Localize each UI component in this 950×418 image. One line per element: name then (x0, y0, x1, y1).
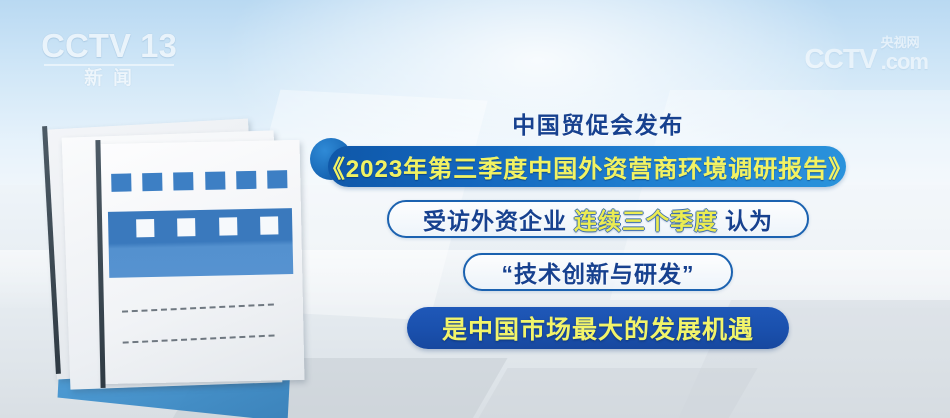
document-window (177, 218, 195, 236)
headline-line4-text: 是中国市场最大的发展机遇 (442, 310, 754, 346)
document-tick (267, 170, 287, 188)
document-tick (111, 173, 131, 191)
report-title-text: 《2023年第三季度中国外资营商环境调研报告》 (321, 149, 853, 184)
survey-report-document-graphic (46, 118, 336, 410)
document-window-row (136, 216, 278, 237)
report-title-banner: 《2023年第三季度中国外资营商环境调研报告》 (328, 146, 846, 187)
document-dashed-rule (123, 334, 275, 343)
document-window (260, 216, 278, 234)
document-tick-row (111, 170, 287, 192)
document-front-face (97, 140, 305, 384)
headline-line2-suffix: 认为 (725, 202, 773, 236)
headline-line2-prefix: 受访外资企业 (423, 202, 567, 236)
headline-line3-pill: “技术创新与研发” (463, 253, 733, 291)
headline-line3-text: “技术创新与研发” (502, 255, 695, 289)
headline-line2-pill: 受访外资企业 连续三个季度 认为 (387, 200, 809, 238)
document-tick (142, 173, 162, 191)
document-window (136, 219, 154, 237)
document-tick (236, 171, 256, 189)
document-tick (173, 172, 193, 190)
headline-block: 中国贸促会发布 《2023年第三季度中国外资营商环境调研报告》 受访外资企业 连… (328, 110, 868, 349)
broadcast-news-frame: CCTV 13 新闻 CCTV 央视网 .com (0, 0, 950, 418)
headline-kicker: 中国贸促会发布 (328, 110, 868, 140)
headline-line2-highlight: 连续三个季度 (571, 202, 721, 236)
document-dashed-rule (122, 303, 274, 312)
document-blue-band (108, 208, 293, 278)
headline-line4-pill: 是中国市场最大的发展机遇 (407, 307, 789, 349)
document-window (219, 217, 237, 235)
document-tick (205, 171, 225, 189)
